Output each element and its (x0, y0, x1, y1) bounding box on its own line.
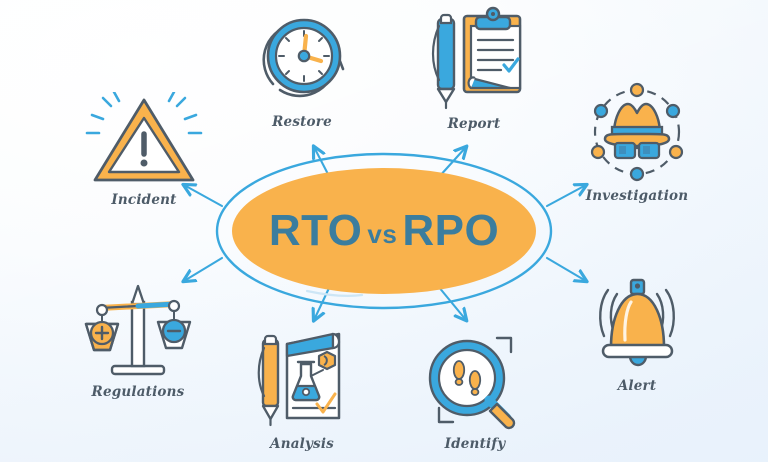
node-alert[interactable]: Alert (557, 272, 717, 394)
node-investigation[interactable]: Investigation (557, 82, 717, 204)
node-report[interactable]: Report (394, 2, 554, 132)
detective-hat-glasses-icon (581, 82, 693, 186)
warning-triangle-icon (81, 92, 207, 190)
node-identify-label: Identify (395, 436, 555, 452)
clipboard-pen-icon (418, 2, 530, 114)
node-restore-label: Restore (222, 114, 382, 130)
node-analysis[interactable]: Analysis (222, 322, 382, 452)
node-incident-label: Incident (64, 192, 224, 208)
flask-document-pen-icon (245, 322, 360, 434)
node-incident[interactable]: Incident (64, 92, 224, 208)
center-ellipse-fill (232, 168, 536, 294)
node-investigation-label: Investigation (557, 188, 717, 204)
node-report-label: Report (394, 116, 554, 132)
node-analysis-label: Analysis (222, 436, 382, 452)
node-regulations[interactable]: Regulations (58, 278, 218, 400)
node-alert-label: Alert (557, 378, 717, 394)
bell-ringing-icon (581, 272, 693, 376)
node-restore[interactable]: Restore (222, 4, 382, 130)
balance-scale-icon (82, 278, 194, 382)
node-identify[interactable]: Identify (395, 330, 555, 452)
infographic-canvas: RTOvsRPO Restore (0, 0, 768, 462)
clock-rotate-icon (247, 4, 357, 112)
magnifier-footprints-icon (419, 330, 531, 434)
node-regulations-label: Regulations (58, 384, 218, 400)
